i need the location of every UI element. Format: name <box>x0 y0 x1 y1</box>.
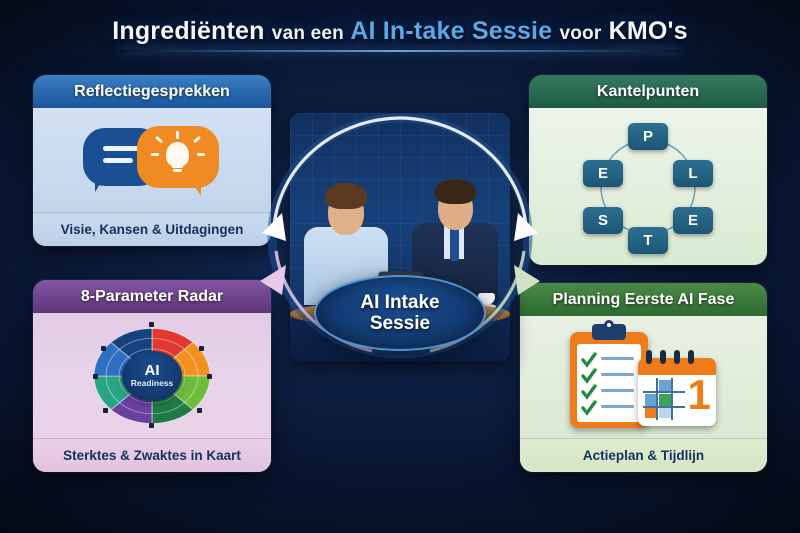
card-caption-radar: Sterktes & Zwaktes in Kaart <box>33 438 271 472</box>
calendar-grid <box>643 378 685 420</box>
card-body-reflection: Visie, Kansen & Uitdagingen <box>33 108 271 246</box>
card-caption-planning: Actieplan & Tijdlijn <box>520 438 767 472</box>
infographic-canvas: Ingrediënten van een AI In-take Sessie v… <box>0 0 800 533</box>
card-body-planning: 1 Actieplan & Tijdlijn <box>520 316 767 472</box>
radar-center-label: AI Readiness <box>122 351 182 401</box>
card-header-kantelpunten: Kantelpunten <box>529 75 767 108</box>
card-kantelpunten[interactable]: Kantelpunten P L E T S E <box>529 75 767 265</box>
center-label-line1: AI Intake <box>360 292 439 313</box>
radar-center-line2: Readiness <box>131 378 174 389</box>
card-header-reflection: Reflectiegesprekken <box>33 75 271 108</box>
title-text: Ingrediënten van een AI In-take Sessie v… <box>112 17 688 46</box>
card-body-kantelpunten: P L E T S E <box>529 108 767 265</box>
pestel-node-t: T <box>628 227 668 254</box>
title-part-3: voor <box>559 23 601 44</box>
card-header-planning: Planning Eerste AI Fase <box>520 283 767 316</box>
pestel-node-l: L <box>673 160 713 187</box>
pestel-cycle-icon: P L E T S E <box>529 108 767 265</box>
speech-bubble-lightbulb-icon <box>33 108 271 212</box>
title-part-1: Ingrediënten <box>112 17 264 45</box>
title-part-4: KMO's <box>609 17 688 45</box>
calendar-day-number: 1 <box>688 374 711 416</box>
pestel-node-e2: E <box>673 207 713 234</box>
card-8-parameter-radar[interactable]: 8-Parameter Radar <box>33 280 271 472</box>
radar-center-line1: AI <box>145 363 160 378</box>
card-caption-reflection: Visie, Kansen & Uitdagingen <box>33 212 271 246</box>
card-reflectiegesprekken[interactable]: Reflectiegesprekken <box>33 75 271 246</box>
center-label-line2: Sessie <box>370 313 430 334</box>
clipboard-calendar-icon: 1 <box>520 316 767 438</box>
title-accent: AI In-take Sessie <box>350 17 552 45</box>
pestel-node-e1: E <box>583 160 623 187</box>
pestel-node-p: P <box>628 123 668 150</box>
center-hub: AI Intake Sessie <box>252 105 548 367</box>
card-planning-eerste-ai-fase[interactable]: Planning Eerste AI Fase <box>520 283 767 472</box>
title-part-2: van een <box>272 23 344 44</box>
title-divider <box>120 50 680 52</box>
clipboard-checklist <box>580 348 640 418</box>
radar-wheel-icon: AI Readiness <box>33 313 271 438</box>
pestel-node-s: S <box>583 207 623 234</box>
card-body-radar: AI Readiness Sterktes & Zwaktes in Kaart <box>33 313 271 472</box>
center-label-oval[interactable]: AI Intake Sessie <box>314 275 486 351</box>
card-header-radar: 8-Parameter Radar <box>33 280 271 313</box>
page-title: Ingrediënten van een AI In-take Sessie v… <box>0 8 800 54</box>
